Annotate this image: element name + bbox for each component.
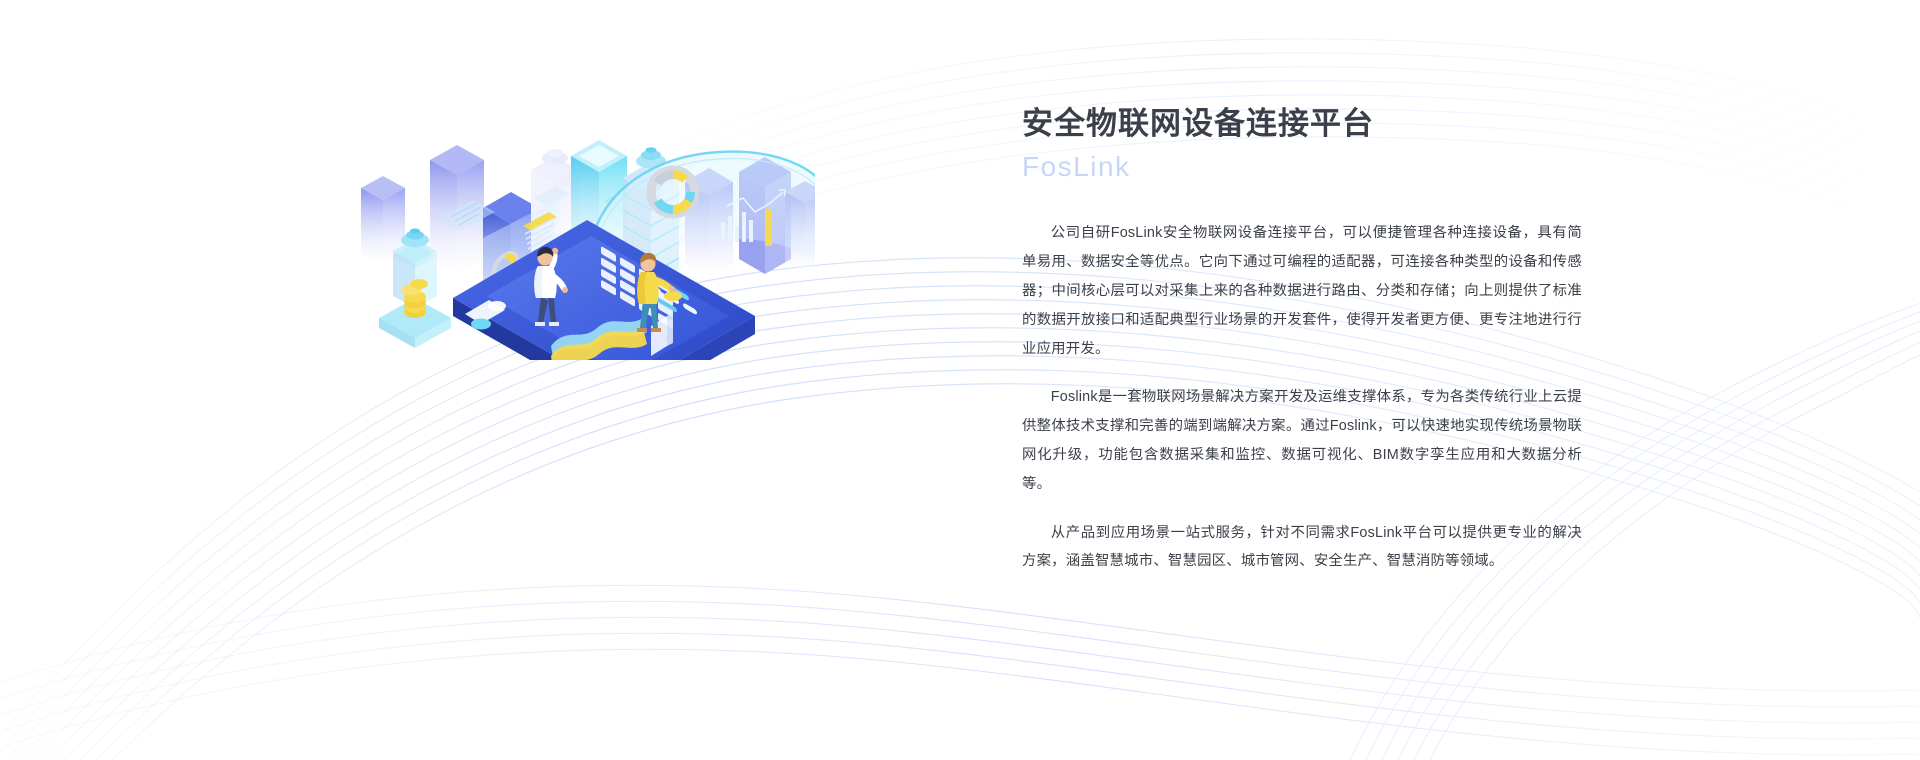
wave-group-lower (0, 585, 1920, 755)
paragraph-2: Foslink是一套物联网场景解决方案开发及运维支撑体系，专为各类传统行业上云提… (1022, 383, 1582, 498)
page-subtitle: FosLink (1022, 150, 1582, 184)
background-wave-decoration (0, 0, 1920, 760)
hero-text-column: 安全物联网设备连接平台 FosLink 公司自研FosLink安全物联网设备连接… (1022, 104, 1582, 576)
page-title: 安全物联网设备连接平台 (1022, 104, 1582, 144)
paragraph-3: 从产品到应用场景一站式服务，针对不同需求FosLink平台可以提供更专业的解决方… (1022, 519, 1582, 577)
yellow-disc (664, 291, 682, 301)
bar-chart-accent (765, 210, 772, 246)
iot-platform-illustration (355, 60, 815, 360)
wave-group-main (0, 258, 1920, 760)
description-block: 公司自研FosLink安全物联网设备连接平台，可以便捷管理各种连接设备，具有简单… (1022, 219, 1582, 576)
hero-section: 安全物联网设备连接平台 FosLink 公司自研FosLink安全物联网设备连接… (0, 0, 1920, 760)
paragraph-1: 公司自研FosLink安全物联网设备连接平台，可以便捷管理各种连接设备，具有简单… (1022, 219, 1582, 363)
